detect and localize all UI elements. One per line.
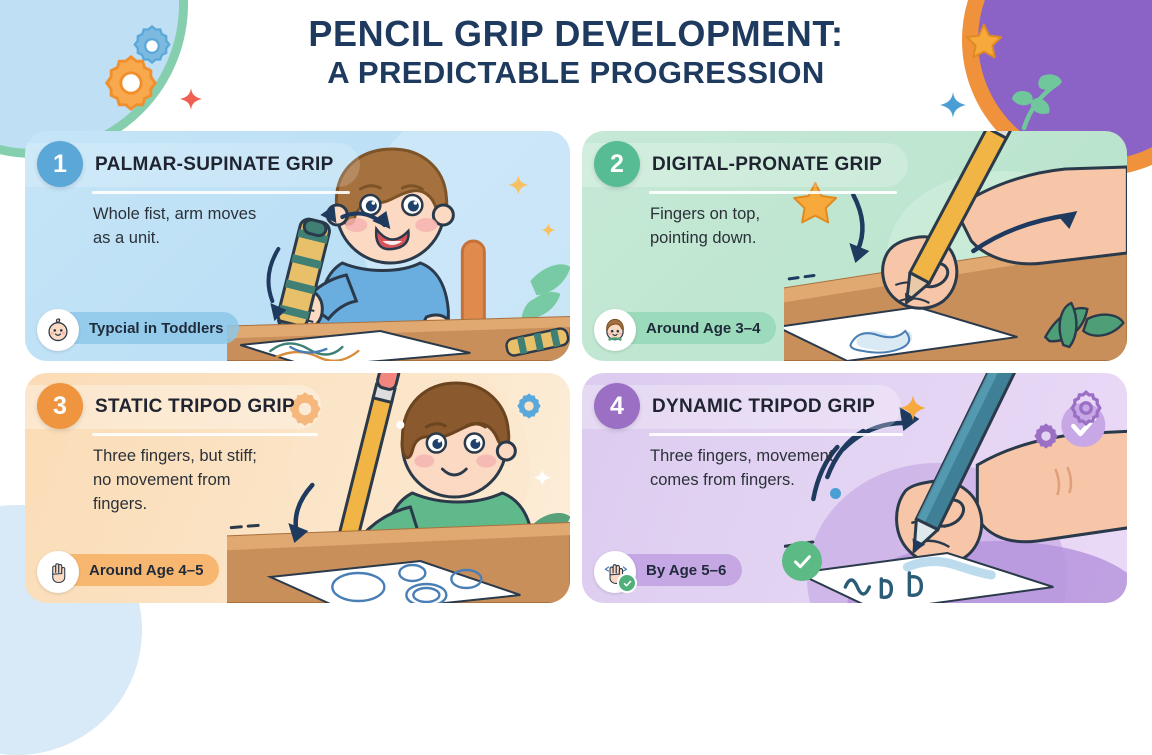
gear-icon — [514, 391, 544, 421]
age-badge: Around Age 4–5 — [37, 551, 219, 589]
child-face-icon — [594, 309, 636, 351]
cards-grid: PALMAR-SUPINATE GRIP 1 Whole fist, arm m… — [25, 131, 1127, 603]
step-number: 4 — [594, 383, 640, 429]
infographic-canvas: PENCIL GRIP DEVELOPMENT: A PREDICTABLE P… — [0, 0, 1152, 625]
step-number-badge: 3 — [37, 383, 83, 429]
hand-moving-fingers-icon — [594, 551, 636, 593]
title-divider — [92, 433, 318, 436]
card-title: DYNAMIC TRIPOD GRIP — [652, 396, 875, 418]
step-number-badge: 2 — [594, 141, 640, 187]
age-label: Typcial in Toddlers — [89, 320, 223, 337]
step-number: 2 — [594, 141, 640, 187]
page-header: PENCIL GRIP DEVELOPMENT: A PREDICTABLE P… — [0, 14, 1152, 92]
card-title: DIGITAL-PRONATE GRIP — [652, 154, 882, 176]
gear-icon — [1065, 387, 1107, 429]
page-subtitle: A PREDICTABLE PROGRESSION — [0, 54, 1152, 91]
card-description: Three fingers, but stiff; no movement fr… — [93, 445, 257, 517]
step-number: 3 — [37, 383, 83, 429]
age-badge: Around Age 3–4 — [594, 309, 776, 347]
age-badge: Typcial in Toddlers — [37, 309, 239, 347]
age-label: Around Age 3–4 — [646, 320, 760, 337]
baby-face-icon — [37, 309, 79, 351]
age-label: By Age 5–6 — [646, 562, 726, 579]
title-divider — [649, 433, 903, 436]
step-number-badge: 4 — [594, 383, 640, 429]
title-divider — [649, 191, 897, 194]
sparkle-icon — [900, 395, 926, 421]
card-dynamic-tripod-grip[interactable]: DYNAMIC TRIPOD GRIP 4 Three fingers, mov… — [582, 373, 1127, 603]
card-static-tripod-grip[interactable]: STATIC TRIPOD GRIP 3 Three fingers, but … — [25, 373, 570, 603]
title-divider — [92, 191, 350, 194]
hand-three-fingers-icon — [37, 551, 79, 593]
card-title: STATIC TRIPOD GRIP — [95, 396, 295, 418]
sparkle-icon — [940, 92, 966, 118]
step-number-badge: 1 — [37, 141, 83, 187]
age-badge: By Age 5–6 — [594, 551, 742, 589]
card-description: Whole fist, arm moves as a unit. — [93, 203, 256, 251]
step-number: 1 — [37, 141, 83, 187]
card-digital-pronate-grip[interactable]: DIGITAL-PRONATE GRIP 2 Fingers on top, p… — [582, 131, 1127, 361]
age-pill: Typcial in Toddlers — [53, 312, 239, 344]
card-palmar-supinate-grip[interactable]: PALMAR-SUPINATE GRIP 1 Whole fist, arm m… — [25, 131, 570, 361]
check-badge-icon — [617, 573, 637, 593]
age-label: Around Age 4–5 — [89, 562, 203, 579]
page-title: PENCIL GRIP DEVELOPMENT: — [0, 14, 1152, 54]
check-icon — [782, 541, 822, 581]
card-description: Three fingers, movement comes from finge… — [650, 445, 833, 493]
card-description: Fingers on top, pointing down. — [650, 203, 760, 251]
gear-icon — [1031, 421, 1061, 451]
card-title: PALMAR-SUPINATE GRIP — [95, 154, 334, 176]
